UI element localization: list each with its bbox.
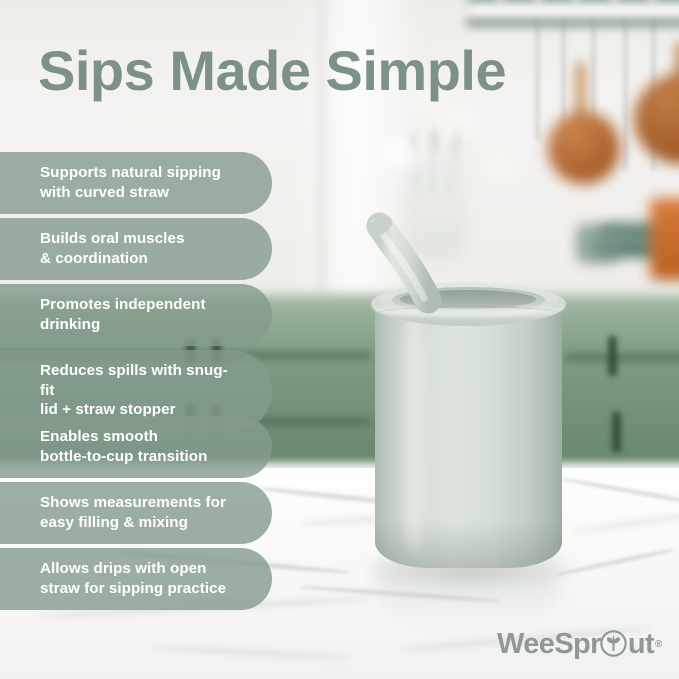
feature-line-2: easy filling & mixing [40,513,238,533]
brand-logo: Wee Spr ut ® [497,628,662,661]
brand-name-part3: ut [628,628,654,661]
feature-line-2: straw for sipping practice [40,579,238,599]
product-infographic: Supports natural sipping with curved str… [0,0,679,679]
sprout-in-circle-icon [600,630,627,657]
feature-badge[interactable]: Builds oral muscles & coordination [0,218,272,280]
feature-line-2: bottle-to-cup transition [40,447,238,467]
feature-line-1: Enables smooth [40,427,238,447]
feature-line-1: Builds oral muscles [40,229,238,249]
brand-name-part2: Spr [554,628,601,661]
brand-name-part1: Wee [497,628,554,661]
feature-badge[interactable]: Enables smooth bottle-to-cup transition [0,416,272,478]
feature-line-1: Supports natural sipping [40,163,238,183]
feature-line-2: & coordination [40,249,238,269]
feature-line-1: Allows drips with open [40,559,238,579]
feature-badge[interactable]: Promotes independent drinking [0,284,272,346]
feature-line-1: Reduces spills with snug-fit [40,361,238,400]
feature-line-1: Promotes independent [40,295,238,315]
feature-badge[interactable]: Shows measurements for easy filling & mi… [0,482,272,544]
page-title: Sips Made Simple [38,38,506,103]
feature-badge[interactable]: Allows drips with open straw for sipping… [0,548,272,610]
feature-line-2: with curved straw [40,183,238,203]
feature-badge[interactable]: Supports natural sipping with curved str… [0,152,272,214]
feature-line-2: drinking [40,315,238,335]
registered-trademark: ® [655,639,662,650]
feature-line-1: Shows measurements for [40,493,238,513]
